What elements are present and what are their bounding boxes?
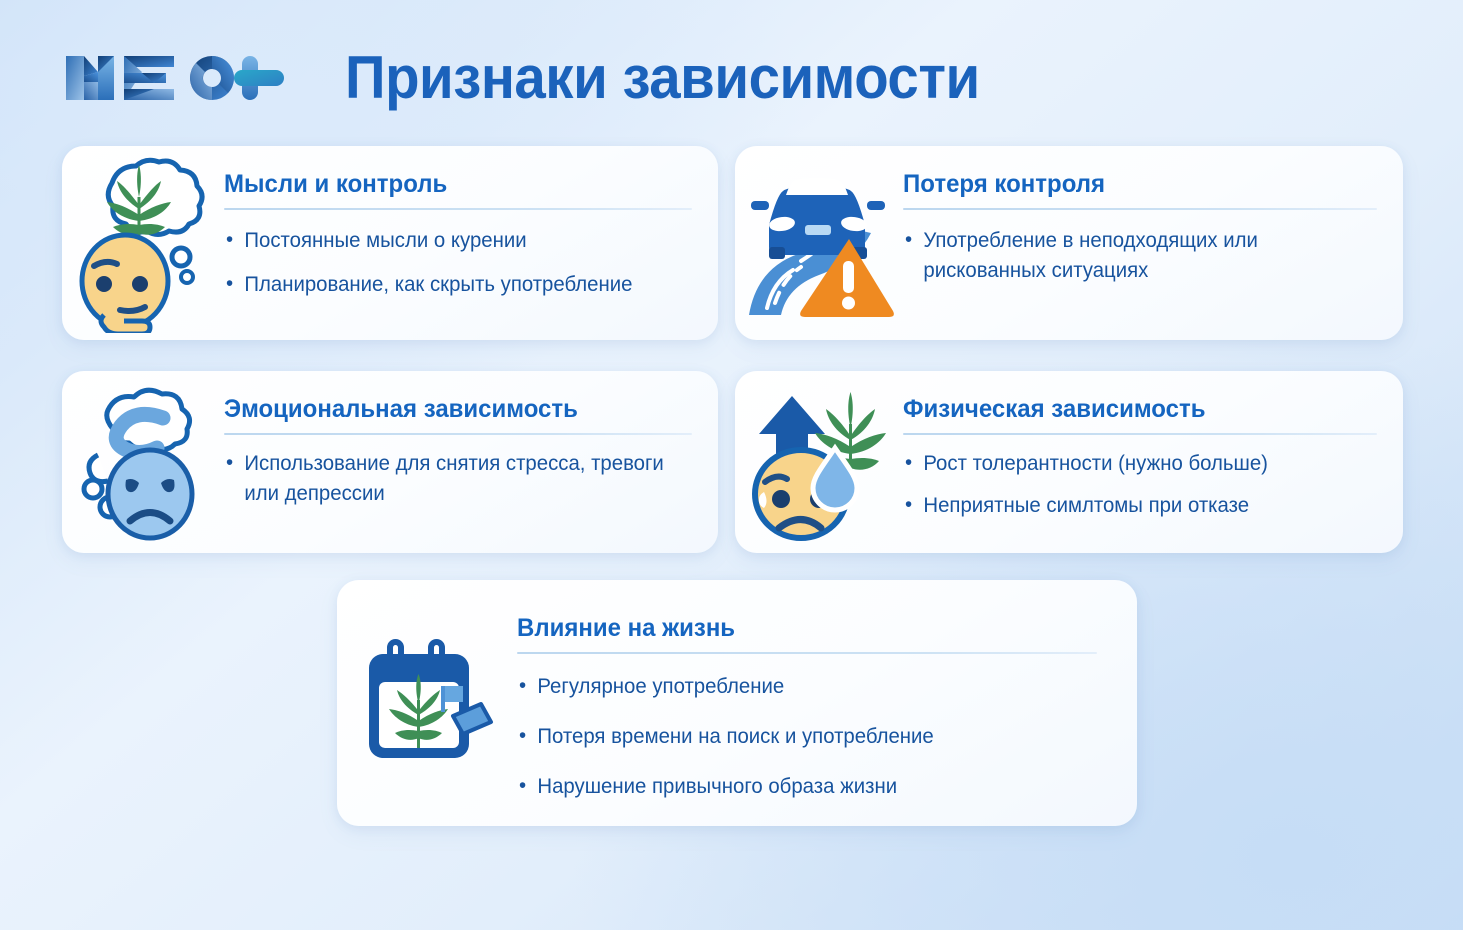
card-emotional-dependence-divider (224, 433, 692, 435)
card-emotional-dependence-body: Эмоциональная зависимость Использование … (224, 371, 718, 509)
card-thoughts-bullets: Постоянные мысли о курении Планирование,… (224, 226, 692, 300)
card-physical-dependence-body: Физическая зависимость Рост толерантност… (903, 371, 1403, 533)
list-item: Неприятные симлтомы при отказе (903, 491, 1363, 521)
card-emotional-dependence: Эмоциональная зависимость Использование … (62, 371, 718, 553)
card-physical-dependence: Физическая зависимость Рост толерантност… (735, 371, 1403, 553)
card-loss-of-control-title: Потеря контроля (903, 170, 1358, 199)
card-thoughts-divider (224, 208, 692, 210)
list-item: Употребление в неподходящих или рискован… (903, 226, 1363, 286)
card-thoughts-title: Мысли и контроль (224, 170, 673, 199)
list-item: Рост толерантности (нужно больше) (903, 449, 1363, 479)
infographic-page: Признаки зависимости (0, 0, 1463, 930)
card-loss-of-control-bullets: Употребление в неподходящих или рискован… (903, 226, 1377, 286)
card-emotional-dependence-bullets: Использование для снятия стресса, тревог… (224, 449, 692, 509)
neo-plus-logo (62, 42, 292, 114)
card-thoughts: Мысли и контроль Постоянные мысли о куре… (62, 146, 718, 340)
list-item: Регулярное употребление (517, 672, 1080, 702)
up-arrow-cannabis-sweating-face-icon (735, 371, 903, 553)
card-emotional-dependence-title: Эмоциональная зависимость (224, 395, 673, 424)
list-item: Потеря времени на поиск и употребление (517, 722, 1080, 752)
card-physical-dependence-bullets: Рост толерантности (нужно больше) Неприя… (903, 449, 1377, 521)
car-road-warning-triangle-icon (735, 146, 903, 340)
card-life-impact-title: Влияние на жизнь (517, 614, 1074, 643)
card-loss-of-control: Потеря контроля Употребление в неподходя… (735, 146, 1403, 340)
thought-cloud-sad-blue-face-icon (62, 371, 224, 553)
card-physical-dependence-divider (903, 433, 1377, 435)
list-item: Планирование, как скрыть употребление (224, 270, 678, 300)
card-loss-of-control-body: Потеря контроля Употребление в неподходя… (903, 146, 1403, 286)
list-item: Нарушение привычного образа жизни (517, 772, 1080, 802)
card-life-impact-divider (517, 652, 1097, 654)
card-thoughts-body: Мысли и контроль Постоянные мысли о куре… (224, 146, 718, 314)
list-item: Постоянные мысли о курении (224, 226, 678, 256)
card-physical-dependence-title: Физическая зависимость (903, 395, 1358, 424)
card-life-impact-bullets: Регулярное употребление Потеря времени н… (517, 672, 1097, 802)
page-header: Признаки зависимости (0, 0, 1463, 140)
card-loss-of-control-divider (903, 208, 1377, 210)
calendar-cannabis-leaf-icon (337, 580, 517, 826)
card-life-impact: Влияние на жизнь Регулярное употребление… (337, 580, 1137, 826)
thought-bubble-cannabis-thinking-face-icon (62, 146, 224, 340)
page-title: Признаки зависимости (345, 42, 980, 114)
card-life-impact-body: Влияние на жизнь Регулярное употребление… (517, 580, 1137, 822)
list-item: Использование для снятия стресса, тревог… (224, 449, 678, 509)
